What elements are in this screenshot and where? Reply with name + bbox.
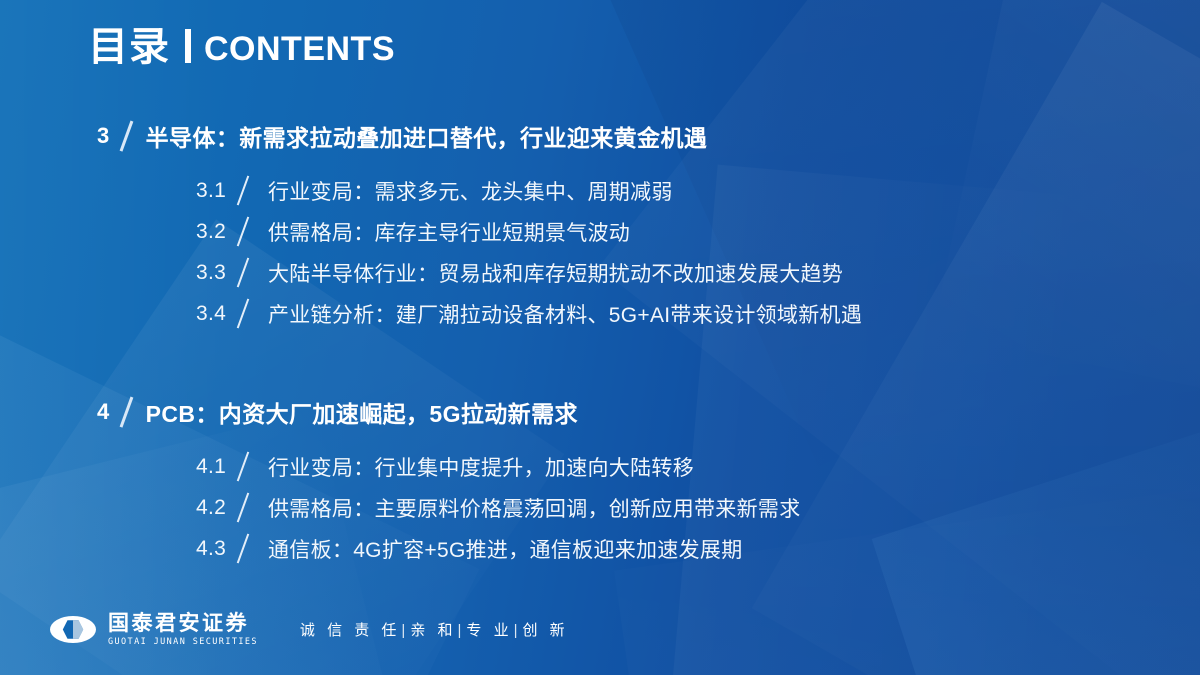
- toc-item-number: 3.1: [196, 179, 230, 203]
- slash-icon: [232, 494, 256, 522]
- toc-item-label: 通信板：4G扩容+5G推进，通信板迎来加速发展期: [268, 534, 743, 564]
- toc-item-label: 大陆半导体行业：贸易战和库存短期扰动不改加速发展大趋势: [268, 258, 843, 288]
- toc-item-label: 行业变局：需求多元、龙头集中、周期减弱: [268, 176, 673, 206]
- toc-item-label: 供需格局：主要原料价格震荡回调，创新应用带来新需求: [268, 493, 801, 523]
- section-number-4: 4: [97, 399, 110, 425]
- slash-icon: [232, 177, 256, 205]
- toc-item-4-3[interactable]: 4.3 通信板：4G扩容+5G推进，通信板迎来加速发展期: [196, 528, 1200, 569]
- toc-item-3-1[interactable]: 3.1 行业变局：需求多元、龙头集中、周期减弱: [196, 170, 1200, 211]
- toc-item-number: 3.2: [196, 220, 230, 244]
- toc-section-3: 3 半导体：新需求拉动叠加进口替代，行业迎来黄金机遇 3.1 行业变局：需求多元…: [0, 118, 1200, 334]
- slash-icon: [232, 535, 256, 563]
- toc-item-number: 4.1: [196, 455, 230, 479]
- slide-root: 目录 CONTENTS 3 半导体：新需求拉动叠加进口替代，行业迎来黄金机遇 3…: [0, 0, 1200, 675]
- toc-item-3-3[interactable]: 3.3 大陆半导体行业：贸易战和库存短期扰动不改加速发展大趋势: [196, 252, 1200, 293]
- toc-item-3-2[interactable]: 3.2 供需格局：库存主导行业短期景气波动: [196, 211, 1200, 252]
- slash-icon: [232, 259, 256, 287]
- slash-icon: [116, 121, 138, 151]
- section-heading-4[interactable]: 4 PCB：内资大厂加速崛起，5G拉动新需求: [0, 394, 1200, 430]
- toc-item-number: 3.4: [196, 302, 230, 326]
- tagline-part-3: 专 业: [466, 622, 512, 639]
- footer-tagline: 诚 信 责 任|亲 和|专 业|创 新: [300, 619, 569, 640]
- section-title-3: 半导体：新需求拉动叠加进口替代，行业迎来黄金机遇: [146, 119, 708, 153]
- toc-item-label: 供需格局：库存主导行业短期景气波动: [268, 217, 630, 247]
- toc-section-4: 4 PCB：内资大厂加速崛起，5G拉动新需求 4.1 行业变局：行业集中度提升，…: [0, 394, 1200, 569]
- tagline-separator: |: [458, 622, 466, 639]
- toc-item-4-2[interactable]: 4.2 供需格局：主要原料价格震荡回调，创新应用带来新需求: [196, 487, 1200, 528]
- slash-icon: [232, 300, 256, 328]
- toc-item-number: 3.3: [196, 261, 230, 285]
- section-number-3: 3: [97, 123, 110, 149]
- toc-item-number: 4.3: [196, 537, 230, 561]
- toc-content: 3 半导体：新需求拉动叠加进口替代，行业迎来黄金机遇 3.1 行业变局：需求多元…: [0, 0, 1200, 675]
- footer: 国泰君安证券 GUOTAI JUNAN SECURITIES 诚 信 责 任|亲…: [50, 613, 569, 647]
- section-3-items: 3.1 行业变局：需求多元、龙头集中、周期减弱 3.2 供需格局：库存主导行业短…: [0, 170, 1200, 334]
- section-heading-3[interactable]: 3 半导体：新需求拉动叠加进口替代，行业迎来黄金机遇: [0, 118, 1200, 154]
- slash-icon: [116, 397, 138, 427]
- slash-icon: [232, 218, 256, 246]
- tagline-part-4: 创 新: [522, 622, 568, 639]
- brand-block: 国泰君安证券 GUOTAI JUNAN SECURITIES: [108, 613, 258, 647]
- tagline-separator: |: [401, 622, 409, 639]
- section-4-items: 4.1 行业变局：行业集中度提升，加速向大陆转移 4.2 供需格局：主要原料价格…: [0, 446, 1200, 569]
- tagline-part-2: 亲 和: [410, 622, 456, 639]
- tagline-separator: |: [514, 622, 522, 639]
- brand-name-cn: 国泰君安证券: [108, 613, 258, 635]
- slash-icon: [232, 453, 256, 481]
- toc-item-label: 产业链分析：建厂潮拉动设备材料、5G+AI带来设计领域新机遇: [268, 299, 862, 329]
- toc-item-4-1[interactable]: 4.1 行业变局：行业集中度提升，加速向大陆转移: [196, 446, 1200, 487]
- section-title-4: PCB：内资大厂加速崛起，5G拉动新需求: [146, 395, 578, 429]
- toc-item-3-4[interactable]: 3.4 产业链分析：建厂潮拉动设备材料、5G+AI带来设计领域新机遇: [196, 293, 1200, 334]
- tagline-part-1: 诚 信 责 任: [300, 622, 401, 639]
- toc-item-label: 行业变局：行业集中度提升，加速向大陆转移: [268, 452, 694, 482]
- brand-name-en: GUOTAI JUNAN SECURITIES: [108, 637, 258, 647]
- guotai-junan-logo-icon: [50, 616, 96, 643]
- toc-item-number: 4.2: [196, 496, 230, 520]
